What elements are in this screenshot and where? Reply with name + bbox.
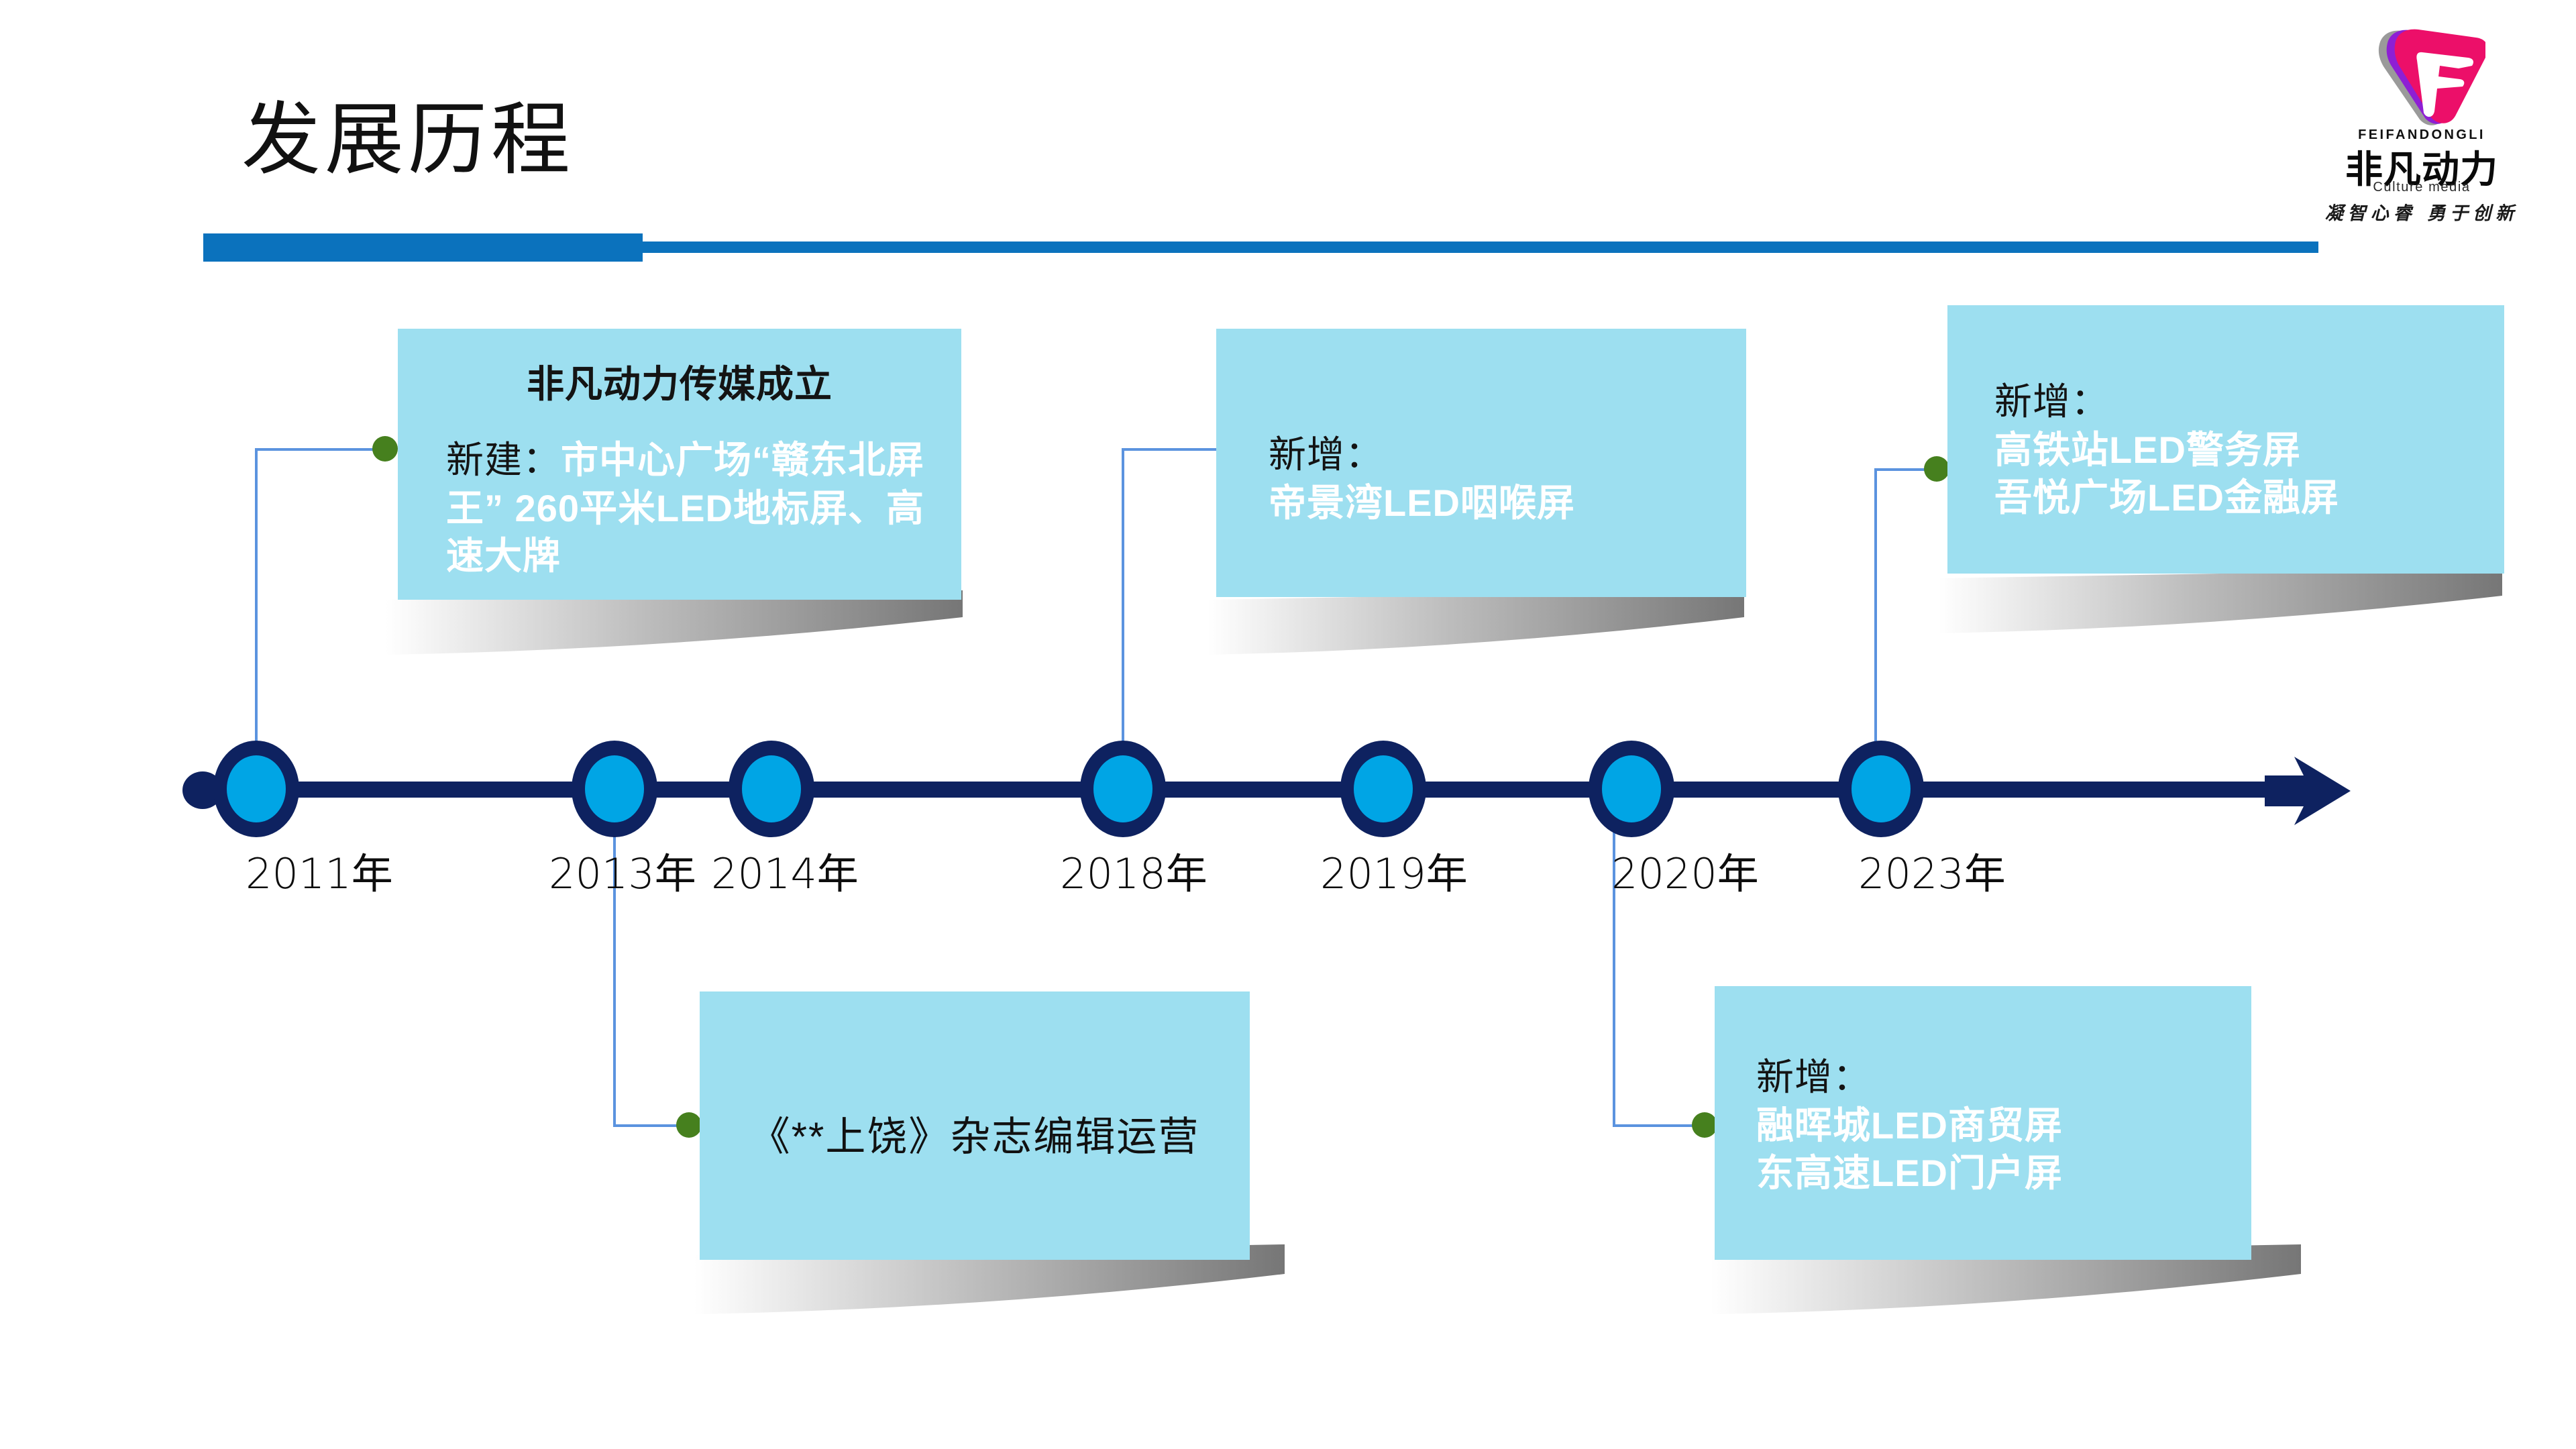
page-title: 发展历程 bbox=[241, 101, 574, 180]
logo-f-mark-icon bbox=[2365, 27, 2485, 126]
card-2011-title: 非凡动力传媒成立 bbox=[398, 361, 961, 408]
timeline-node-2019[interactable] bbox=[1340, 741, 1426, 837]
card-2018-text: 新增： 帝景湾LED咽喉屏 bbox=[1269, 431, 1575, 527]
year-label-2023: 2023年 bbox=[1858, 840, 2006, 900]
card-2023-body-line2: 吾悦广场LED金融屏 bbox=[1994, 474, 2339, 522]
card-2018-body: 帝景湾LED咽喉屏 bbox=[1269, 479, 1575, 527]
timeline-node-2018[interactable] bbox=[1080, 741, 1166, 837]
node-core bbox=[742, 755, 801, 822]
card-shadow-2018 bbox=[1207, 590, 1744, 664]
event-card-2011[interactable]: 非凡动力传媒成立 新建：市中心广场“赣东北屏王” 260平米LED地标屏、高速大… bbox=[398, 329, 961, 600]
card-2020-body-line2: 东高速LED门户屏 bbox=[1756, 1149, 2063, 1197]
logo-subtitle-text: Culture media bbox=[2308, 180, 2536, 195]
event-card-2023[interactable]: 新增： 高铁站LED警务屏 吾悦广场LED金融屏 bbox=[1947, 305, 2504, 574]
node-core bbox=[585, 755, 644, 822]
year-label-2011: 2011年 bbox=[246, 840, 393, 900]
card-2018-lead: 新增： bbox=[1269, 431, 1575, 479]
year-label-2020: 2020年 bbox=[1611, 840, 1759, 900]
event-card-2018[interactable]: 新增： 帝景湾LED咽喉屏 bbox=[1216, 329, 1746, 597]
event-card-2020[interactable]: 新增： 融晖城LED商贸屏 东高速LED门户屏 bbox=[1715, 986, 2251, 1260]
timeline-node-2011[interactable] bbox=[213, 741, 299, 837]
card-2023-text: 新增： 高铁站LED警务屏 吾悦广场LED金融屏 bbox=[1994, 378, 2339, 522]
year-label-2013: 2013年 bbox=[549, 840, 696, 900]
year-label-2018: 2018年 bbox=[1060, 840, 1207, 900]
card-2011-text: 新建：市中心广场“赣东北屏王” 260平米LED地标屏、高速大牌 bbox=[446, 436, 938, 580]
node-core bbox=[227, 755, 286, 822]
card-2023-lead: 新增： bbox=[1994, 378, 2339, 426]
event-card-2013[interactable]: 《**上饶》杂志编辑运营 bbox=[700, 991, 1250, 1260]
timeline-arrow-icon bbox=[2261, 751, 2355, 830]
title-rule-line bbox=[643, 241, 2318, 253]
timeline-axis bbox=[188, 782, 2284, 798]
card-2020-lead: 新增： bbox=[1756, 1053, 2063, 1102]
card-shadow-2011 bbox=[386, 590, 963, 664]
timeline-node-2013[interactable] bbox=[572, 741, 657, 837]
timeline-node-2023[interactable] bbox=[1838, 741, 1924, 837]
node-core bbox=[1602, 755, 1661, 822]
card-2020-text: 新增： 融晖城LED商贸屏 东高速LED门户屏 bbox=[1756, 1053, 2063, 1197]
logo-tagline-text: 凝智心睿 勇于创新 bbox=[2308, 199, 2536, 225]
company-logo: FEIFANDONGLI 非凡动力 Culture media 凝智心睿 勇于创… bbox=[2308, 27, 2536, 221]
title-rule-block bbox=[203, 233, 643, 262]
node-core bbox=[1354, 755, 1413, 822]
card-2023-body-line1: 高铁站LED警务屏 bbox=[1994, 426, 2339, 474]
card-2011-lead: 新建： bbox=[446, 439, 561, 481]
timeline-node-2020[interactable] bbox=[1589, 741, 1674, 837]
year-label-2019: 2019年 bbox=[1320, 840, 1468, 900]
slide-canvas: 发展历程 FEIFANDONGLI 非凡动力 Culture media 凝智心… bbox=[0, 0, 2576, 1449]
node-core bbox=[1851, 755, 1911, 822]
card-2020-body-line1: 融晖城LED商贸屏 bbox=[1756, 1102, 2063, 1150]
timeline-node-2014[interactable] bbox=[729, 741, 814, 837]
card-2013-body: 《**上饶》杂志编辑运营 bbox=[700, 1111, 1250, 1163]
year-label-2014: 2014年 bbox=[711, 840, 859, 900]
node-core bbox=[1093, 755, 1152, 822]
card-shadow-2023 bbox=[1939, 569, 2502, 643]
